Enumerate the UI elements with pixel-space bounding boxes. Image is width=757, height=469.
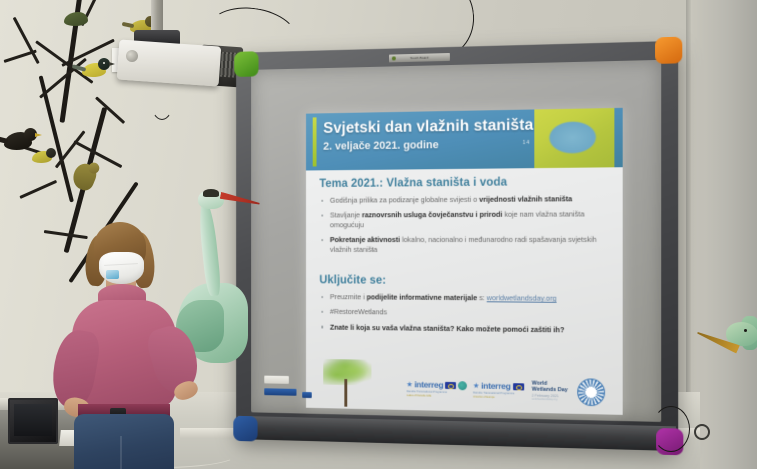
slide-bullet: Stavljanje raznovrsnih usluga čovječanst… [319,210,612,230]
board-sticker-white [264,376,289,384]
board-sticker-blue-2 [302,392,312,398]
whiteboard-surface[interactable]: Svjetski dan vlažnih staništa 2. veljače… [251,60,661,422]
programme-circle-icon [458,381,467,390]
slide-bullet: Godišnja prilika za podizanje globalne s… [319,194,612,205]
tree-canopy [323,359,371,385]
mask-logo-tag [106,270,119,279]
board-corner-top-left [234,51,258,77]
slide-accent-bar [313,117,317,166]
slide-bullet: Preuzmite i podijelite informativne mate… [319,292,612,304]
board-corner-bottom-left [233,416,257,442]
slide-section-one-bullets: Godišnja prilika za podizanje globalne s… [319,194,612,260]
heron-eye [744,329,747,332]
heron-model [700,316,757,426]
wall-fixture-ring [694,424,710,440]
footer-logos: interreg Danube Transnational Programme … [407,372,609,408]
projector-power-cord [150,78,174,120]
heron-head [726,322,757,346]
eu-flag-icon-two [513,383,524,390]
monitor-screen [14,404,52,436]
stork-head-cap [203,189,219,197]
jeans-seam [120,436,122,469]
classroom-scene: Svjetski dan vlažnih staništa 2. veljače… [0,0,757,469]
eu-flag-icon [445,381,456,388]
board-sticker-blue [264,388,296,395]
slide-subtitle: 2. veljače 2021. godine [323,139,439,152]
projector-body [117,39,222,86]
interreg-project-one: Lakes of Danube Hills [407,394,468,399]
slide-section-two-heading: Uključite se: [319,274,386,286]
slide-header: Svjetski dan vlažnih staništa 2. veljače… [306,108,623,171]
whiteboard-brand-label: Touch Board [389,53,450,63]
presenter [48,222,196,469]
bird-siskin [30,148,58,166]
interreg-star-icon [407,381,413,387]
slide-title: Svjetski dan vlažnih staništa [323,117,534,138]
board-cable-loop [652,406,690,452]
slide-bullet: Znate li koja su vaša vlažna staništa? K… [319,322,612,335]
tree-trunk [344,379,347,407]
stork-beak [220,192,261,207]
bird-leaf-shape [64,12,88,26]
interactive-whiteboard[interactable]: Svjetski dan vlažnih staništa 2. veljače… [236,41,678,449]
interreg-logo-one: interreg Danube Transnational Programme … [407,374,468,403]
wetland-aerial-photo [534,108,614,168]
stork-neck [197,199,222,296]
slide-section-one-heading: Tema 2021.: Vlažna staništa i voda [319,176,507,190]
wwd-url: worldwetlandsday.org [532,398,568,402]
projected-slide: Svjetski dan vlažnih staništa 2. veljače… [306,108,623,415]
wwd-date: 2 February 2021 [532,393,568,398]
brand-dot-icon [392,56,396,60]
wwd-title-line1: World [532,380,568,387]
world-wetlands-day-globe-icon [577,378,605,406]
projector-mount-pole [151,0,163,34]
interreg-wordmark-one: interreg [414,379,443,390]
slide-section-two-bullets: Preuzmite i podijelite informativne mate… [319,292,612,341]
bird-great-tit [78,58,112,80]
projector-lens [126,50,138,62]
interreg-star-icon-two [473,383,479,389]
slide-bullet: Pokretanje aktivnosti lokalno, nacionaln… [319,235,612,254]
slide-bullet: #RestoreWetlands [319,307,612,319]
wwd-title-line2: Wetlands Day [532,386,568,393]
world-wetlands-day-text: World Wetlands Day 2 February 2021 world… [532,380,568,402]
slide-footer: interreg Danube Transnational Programme … [306,355,623,415]
tree-illustration [319,357,373,407]
slide-page-number: 14 [523,140,531,146]
board-corner-top-right [655,37,682,64]
presenter-jeans [74,414,174,469]
face-mask-icon [99,252,144,284]
